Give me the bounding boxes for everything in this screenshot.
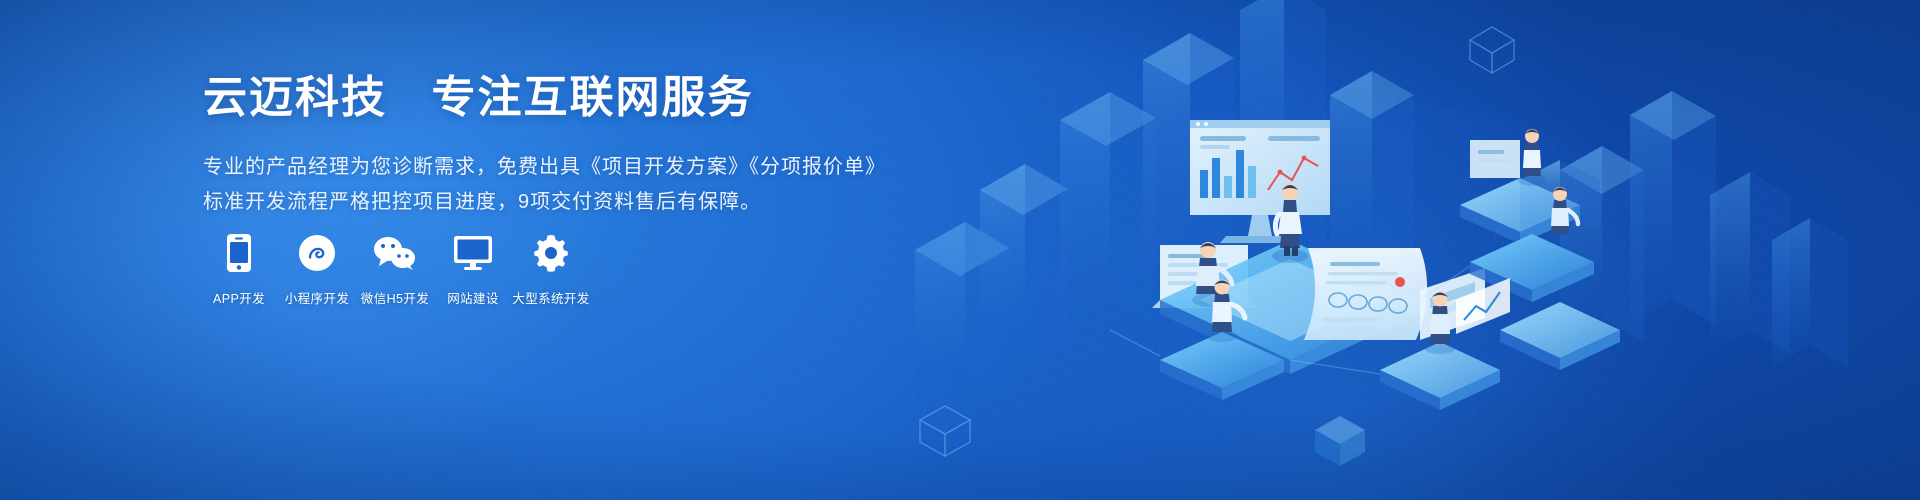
document-scroll <box>1304 248 1427 340</box>
small-panel-upper-right <box>1470 140 1520 178</box>
service-item-website[interactable]: 网站建设 <box>437 232 509 307</box>
monitor-icon <box>453 232 493 274</box>
solid-cubes <box>1315 416 1365 466</box>
wechat-icon <box>373 232 417 274</box>
hero-copy: 云迈科技 专注互联网服务 专业的产品经理为您诊断需求，免费出具《项目开发方案》《… <box>203 72 903 220</box>
subtitle-line-1: 专业的产品经理为您诊断需求，免费出具《项目开发方案》《分项报价单》 <box>203 150 903 185</box>
isometric-illustration <box>860 0 1920 500</box>
mobile-phone-icon <box>226 232 252 274</box>
page-title: 云迈科技 专注互联网服务 <box>203 72 903 124</box>
mini-program-icon <box>298 232 336 274</box>
service-label: APP开发 <box>213 288 265 307</box>
service-item-app[interactable]: APP开发 <box>203 232 275 307</box>
service-list: APP开发 小程序开发 <box>203 232 587 307</box>
service-label: 网站建设 <box>447 288 499 307</box>
service-item-miniprogram[interactable]: 小程序开发 <box>281 232 353 307</box>
gear-icon <box>532 232 570 274</box>
service-item-wechat-h5[interactable]: 微信H5开发 <box>359 232 431 307</box>
headline-part-1: 云迈科技 <box>203 73 387 122</box>
subtitle-line-2: 标准开发流程严格把控项目进度，9项交付资料售后有保障。 <box>203 185 903 220</box>
service-label: 微信H5开发 <box>361 288 429 307</box>
hero-subtitle: 专业的产品经理为您诊断需求，免费出具《项目开发方案》《分项报价单》 标准开发流程… <box>203 150 903 220</box>
headline-part-2: 专注互联网服务 <box>431 73 753 122</box>
standing-figure-upper-right <box>1518 129 1546 186</box>
service-label: 大型系统开发 <box>512 288 589 307</box>
service-item-large-system[interactable]: 大型系统开发 <box>515 232 587 307</box>
service-label: 小程序开发 <box>285 288 350 307</box>
hero-banner: 云迈科技 专注互联网服务 专业的产品经理为您诊断需求，免费出具《项目开发方案》《… <box>0 0 1920 500</box>
